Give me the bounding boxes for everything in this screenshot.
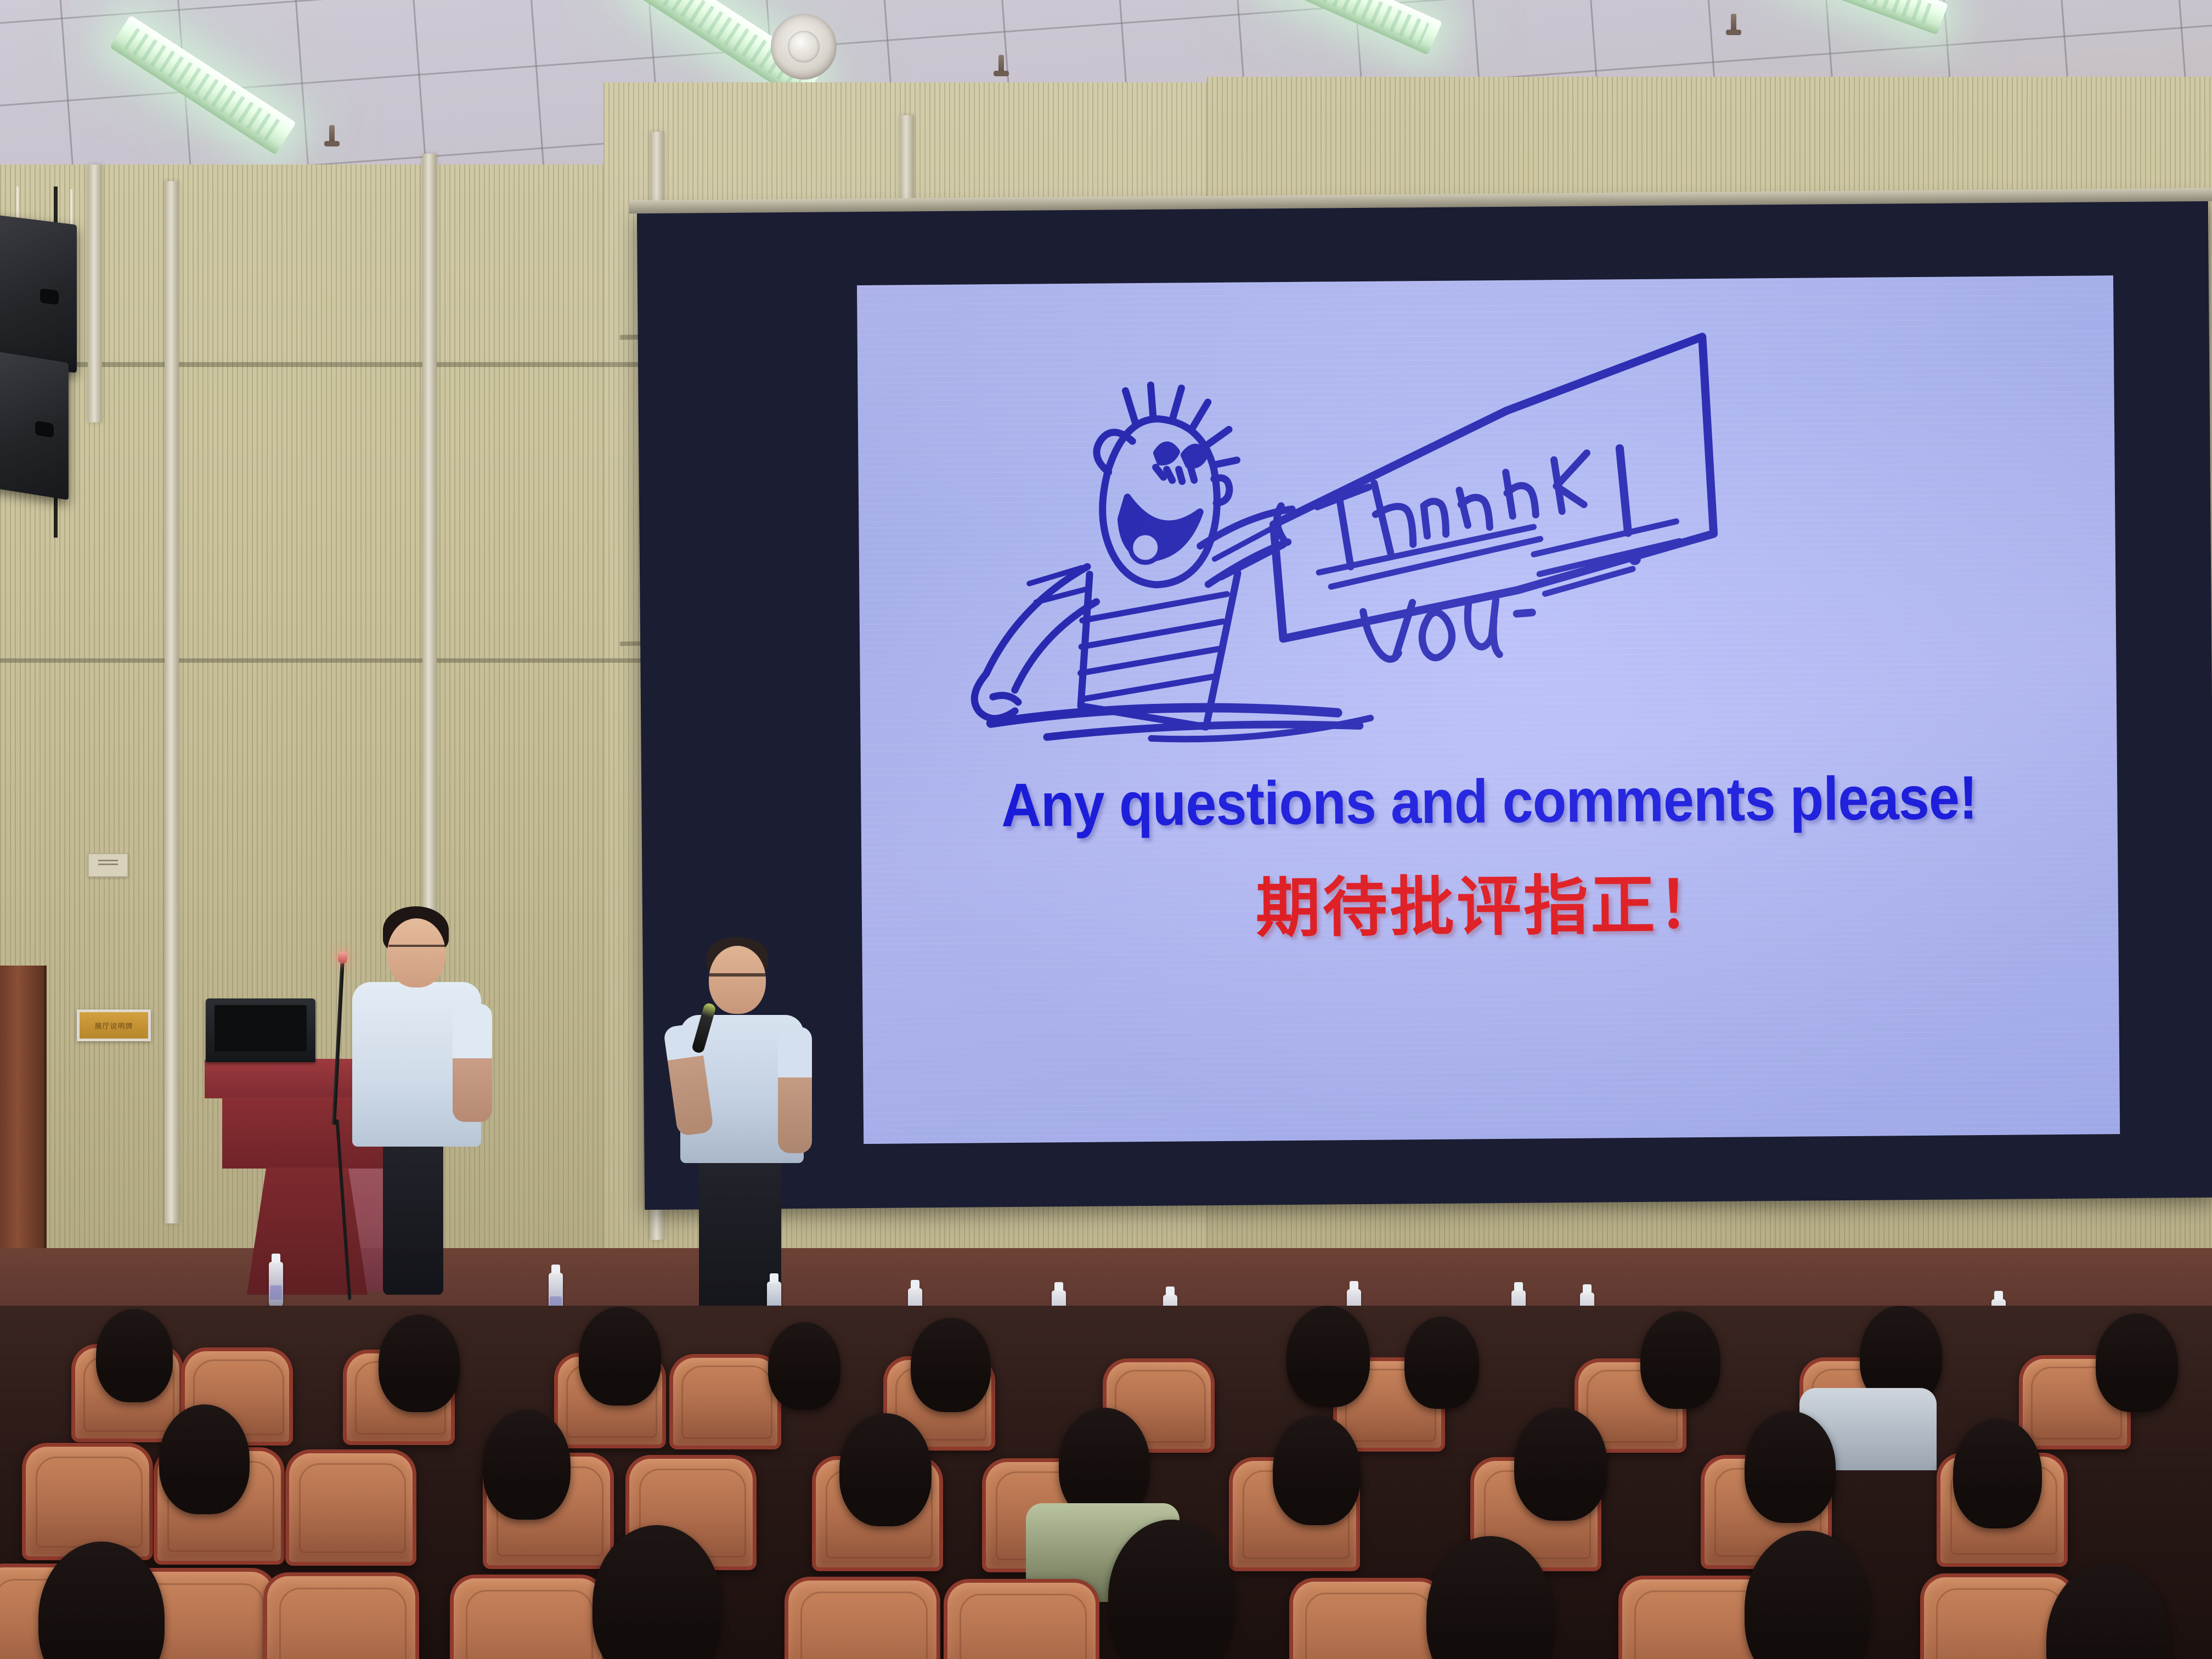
audience-head — [483, 1410, 571, 1520]
audience-head — [579, 1307, 661, 1406]
seat[interactable] — [22, 1443, 153, 1560]
audience-seating — [0, 1306, 2212, 1659]
projection-screen: Any questions and comments please! 期待批评指… — [637, 198, 2212, 1210]
presenter-arm-right — [778, 1027, 812, 1153]
audience-head — [379, 1314, 460, 1412]
audience-head — [159, 1404, 250, 1514]
audience-head — [911, 1318, 991, 1412]
glasses-icon — [709, 973, 766, 977]
slide-content: Any questions and comments please! 期待批评指… — [857, 275, 2120, 1144]
wall-pillar — [165, 181, 179, 1223]
seat[interactable] — [785, 1577, 940, 1659]
presenter-arm-right — [453, 1004, 492, 1122]
seat[interactable] — [263, 1572, 419, 1659]
thank-you-cartoon-svg — [950, 281, 2029, 756]
presenter-with-microphone — [664, 933, 828, 1328]
wall-plaque: 展厅说明牌 — [77, 1009, 151, 1041]
seat[interactable] — [450, 1575, 606, 1659]
wall-plaque-text: 展厅说明牌 — [94, 1020, 133, 1031]
wall-pillar — [88, 165, 102, 422]
audience-head — [1514, 1408, 1607, 1521]
presenter-head — [709, 946, 766, 1014]
wall-outlet[interactable] — [88, 853, 128, 877]
line-array-speaker — [0, 214, 77, 373]
audience-head — [1745, 1411, 1836, 1523]
sprinkler-head-icon — [998, 55, 1004, 74]
seat[interactable] — [1289, 1578, 1445, 1659]
audience-head — [1404, 1317, 1479, 1409]
wall-seam — [0, 658, 647, 663]
audience-head — [1953, 1419, 2042, 1528]
audience-head — [2096, 1313, 2178, 1412]
slide-heading-english: Any questions and comments please! — [923, 761, 2055, 841]
sprinkler-head-icon — [329, 125, 335, 144]
audience-head — [839, 1413, 932, 1526]
sprinkler-head-icon — [1731, 14, 1736, 32]
presenter-head — [387, 918, 445, 988]
water-bottle[interactable] — [269, 1262, 283, 1307]
audience-head — [1640, 1311, 1720, 1409]
cartoon-illustration — [950, 281, 2029, 756]
smoke-detector-icon — [771, 14, 837, 80]
presenter-at-podium — [340, 900, 499, 1295]
seat[interactable] — [285, 1449, 416, 1566]
audience-head — [1273, 1415, 1361, 1525]
glasses-icon — [388, 945, 445, 947]
auditorium-scene: 展厅说明牌 — [0, 0, 2212, 1659]
seat[interactable] — [669, 1354, 781, 1449]
audience-head — [1286, 1306, 1370, 1407]
seat[interactable] — [944, 1579, 1099, 1659]
audience-head — [96, 1309, 173, 1402]
laptop-icon[interactable] — [206, 998, 315, 1062]
slide-heading-chinese: 期待批评指正！ — [861, 849, 2118, 952]
audience-head — [768, 1322, 840, 1410]
line-array-speaker — [0, 351, 69, 500]
presenter-legs — [383, 1136, 443, 1295]
